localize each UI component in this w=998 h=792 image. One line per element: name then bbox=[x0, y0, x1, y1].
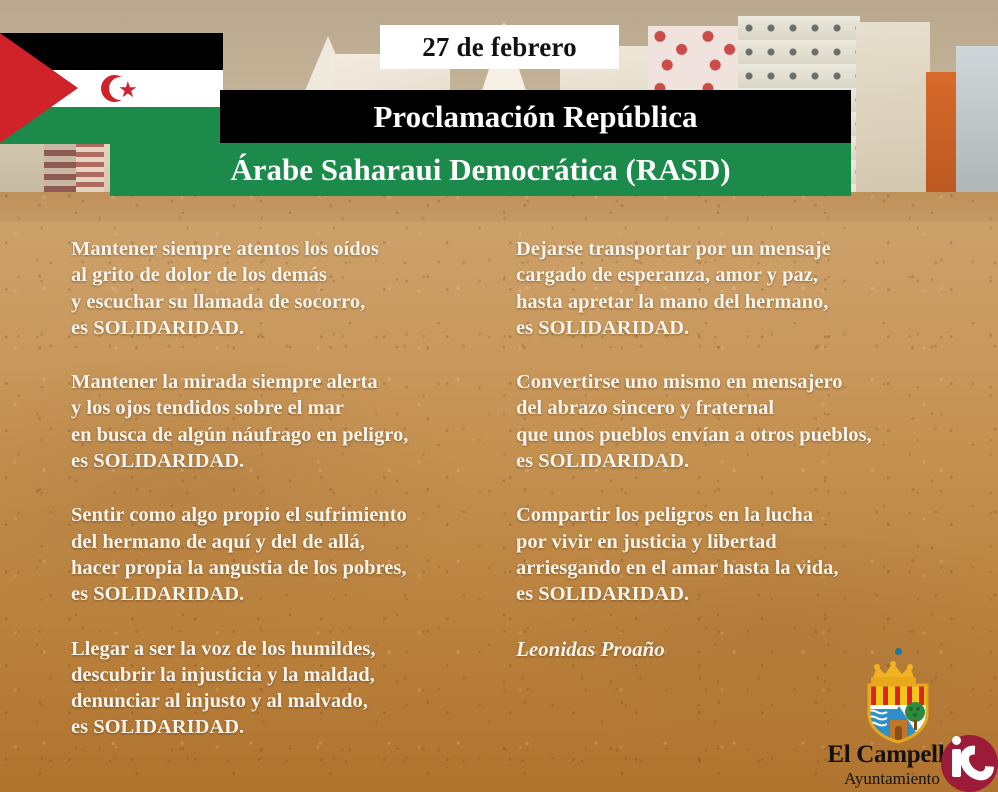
poster-canvas: ★ 27 de febrero Proclamación República Á… bbox=[0, 0, 998, 792]
title-line-2: Árabe Saharaui Democrática (RASD) bbox=[230, 152, 730, 188]
poem-column-right: Dejarse transportar por un mensaje carga… bbox=[516, 236, 946, 662]
poem-line: hasta apretar la mano del hermano, bbox=[516, 289, 946, 315]
poem-line: es SOLIDARIDAD. bbox=[71, 581, 501, 607]
poem-line: que unos pueblos envían a otros pueblos, bbox=[516, 422, 946, 448]
poem-line: cargado de esperanza, amor y paz, bbox=[516, 262, 946, 288]
poem-line: es SOLIDARIDAD. bbox=[71, 714, 501, 740]
stanza: Mantener la mirada siempre alerta y los … bbox=[71, 369, 501, 474]
date-label: 27 de febrero bbox=[422, 32, 577, 63]
poem-line: y los ojos tendidos sobre el mar bbox=[71, 395, 501, 421]
stanza: Sentir como algo propio el sufrimiento d… bbox=[71, 502, 501, 607]
poem-line: del hermano de aquí y del de allá, bbox=[71, 529, 501, 555]
poem-line: Dejarse transportar por un mensaje bbox=[516, 236, 946, 262]
stanza: Compartir los peligros en la lucha por v… bbox=[516, 502, 946, 607]
ic-letter-c bbox=[953, 739, 998, 787]
poem-line: es SOLIDARIDAD. bbox=[516, 581, 946, 607]
poem-line: Convertirse uno mismo en mensajero bbox=[516, 369, 946, 395]
poem-line: denunciar al injusto y al malvado, bbox=[71, 688, 501, 714]
stanza: Llegar a ser la voz de los humildes, des… bbox=[71, 636, 501, 741]
ic-badge-icon[interactable] bbox=[941, 735, 998, 792]
shield-svg bbox=[855, 656, 941, 744]
poem-line: y escuchar su llamada de socorro, bbox=[71, 289, 501, 315]
title-banner-green: Árabe Saharaui Democrática (RASD) bbox=[110, 143, 851, 196]
poem-line: Mantener la mirada siempre alerta bbox=[71, 369, 501, 395]
el-campello-logo[interactable]: El Campello Ayuntamiento bbox=[807, 645, 998, 792]
coat-of-arms-icon bbox=[855, 648, 941, 743]
stanza: Dejarse transportar por un mensaje carga… bbox=[516, 236, 946, 341]
poem-line: arriesgando en el amar hasta la vida, bbox=[516, 555, 946, 581]
sahrawi-flag-icon: ★ bbox=[0, 33, 223, 144]
poem-line: es SOLIDARIDAD. bbox=[71, 315, 501, 341]
poem-line: hacer propia la angustia de los pobres, bbox=[71, 555, 501, 581]
poem-line: del abrazo sincero y fraternal bbox=[516, 395, 946, 421]
poem-line: es SOLIDARIDAD. bbox=[516, 315, 946, 341]
title-banner-black: Proclamación República bbox=[220, 90, 851, 143]
poem-line: es SOLIDARIDAD. bbox=[516, 448, 946, 474]
poem-column-left: Mantener siempre atentos los oídos al gr… bbox=[71, 236, 501, 769]
poem-line: Sentir como algo propio el sufrimiento bbox=[71, 502, 501, 528]
poem-line: por vivir en justicia y libertad bbox=[516, 529, 946, 555]
crown-dot-icon bbox=[895, 648, 902, 655]
poem-line: Llegar a ser la voz de los humildes, bbox=[71, 636, 501, 662]
star-icon: ★ bbox=[118, 79, 138, 101]
stanza: Convertirse uno mismo en mensajero del a… bbox=[516, 369, 946, 474]
flag-red-triangle bbox=[0, 33, 78, 143]
poem-line: al grito de dolor de los demás bbox=[71, 262, 501, 288]
poem-line: Mantener siempre atentos los oídos bbox=[71, 236, 501, 262]
title-line-1: Proclamación República bbox=[373, 99, 697, 135]
poem-line: descubrir la injusticia y la maldad, bbox=[71, 662, 501, 688]
poem-line: en busca de algún náufrago en peligro, bbox=[71, 422, 501, 448]
poem-line: Compartir los peligros en la lucha bbox=[516, 502, 946, 528]
poem-line: es SOLIDARIDAD. bbox=[71, 448, 501, 474]
stanza: Mantener siempre atentos los oídos al gr… bbox=[71, 236, 501, 341]
date-badge: 27 de febrero bbox=[380, 25, 619, 69]
